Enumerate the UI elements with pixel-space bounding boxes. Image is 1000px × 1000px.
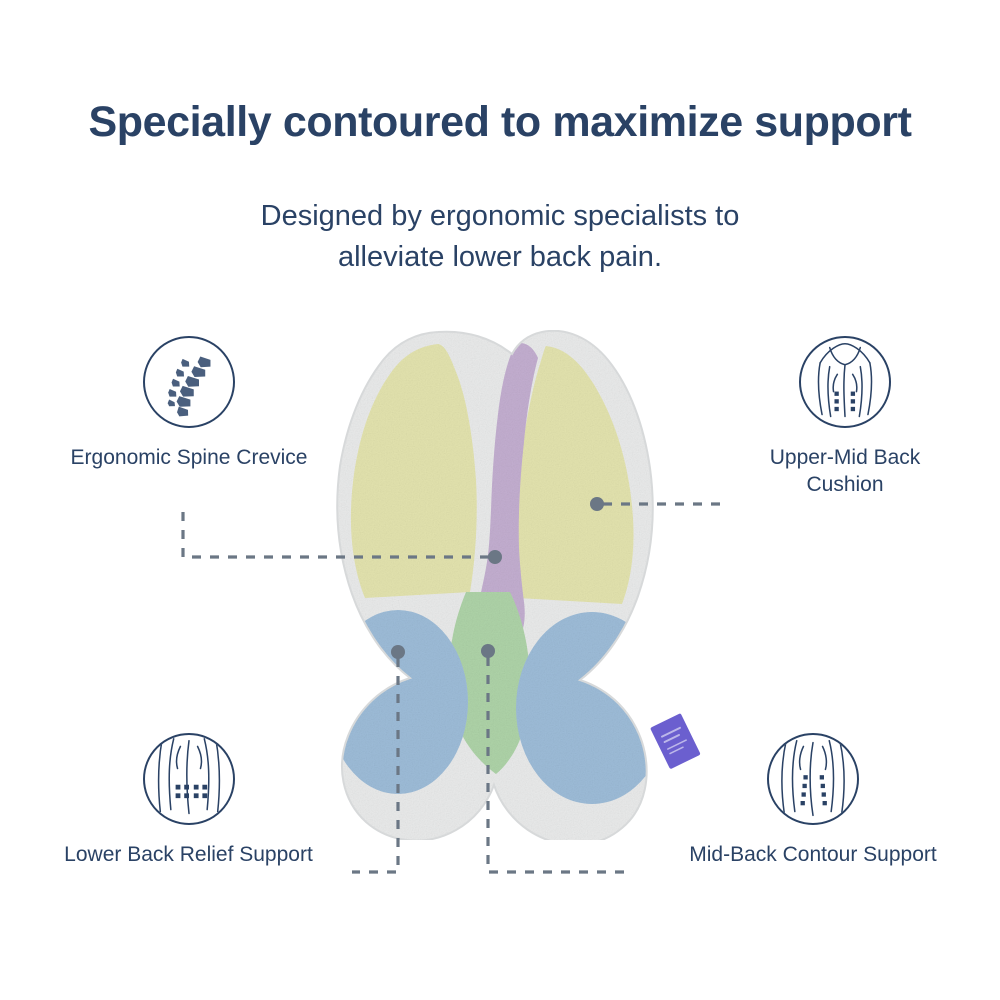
upper-back-torso-icon (799, 336, 891, 428)
feature-lower-back: Lower Back Relief Support (16, 733, 361, 868)
icon-wrapper (24, 336, 354, 428)
infographic-root: Specially contoured to maximize support … (0, 0, 1000, 1000)
subtitle-line-1: Designed by ergonomic specialists to (0, 196, 1000, 237)
icon-wrapper (16, 733, 361, 825)
feature-label-upper-mid-back: Upper-Mid Back Cushion (700, 444, 990, 499)
page-subtitle: Designed by ergonomic specialists to all… (0, 196, 1000, 278)
spine-icon (143, 336, 235, 428)
feature-upper-mid-back: Upper-Mid Back Cushion (700, 336, 990, 499)
feature-label-spine-crevice: Ergonomic Spine Crevice (24, 444, 354, 471)
feature-spine-crevice: Ergonomic Spine Crevice (24, 336, 354, 471)
lower-back-torso-icon (143, 733, 235, 825)
feature-mid-back: Mid-Back Contour Support (638, 733, 988, 868)
icon-wrapper (700, 336, 990, 428)
icon-wrapper (638, 733, 988, 825)
mid-back-torso-icon (767, 733, 859, 825)
feature-label-lower-back: Lower Back Relief Support (16, 841, 361, 868)
page-title: Specially contoured to maximize support (0, 98, 1000, 146)
subtitle-line-2: alleviate lower back pain. (0, 237, 1000, 278)
feature-label-mid-back: Mid-Back Contour Support (638, 841, 988, 868)
